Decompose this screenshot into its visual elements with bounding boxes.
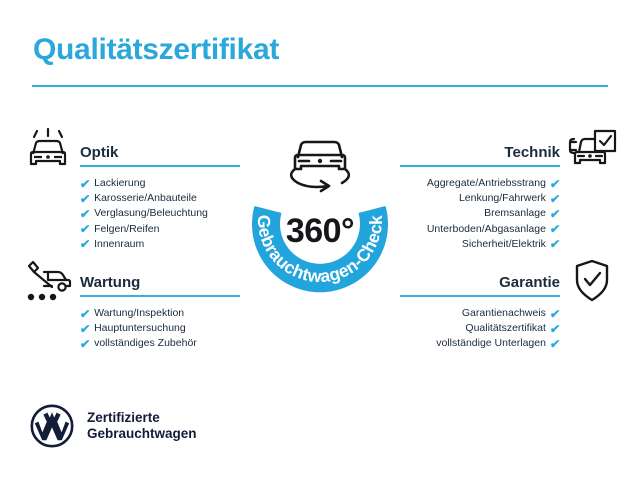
wartung-check-list: ✔ Wartung/Inspektion ✔ Hauptuntersuchung… [80, 306, 260, 352]
list-item-label: Bremsanlage [484, 206, 546, 221]
list-item-label: Verglasung/Beleuchtung [94, 206, 208, 221]
page-title: Qualitätszertifikat [33, 33, 279, 67]
car-checkbox-icon [566, 128, 618, 174]
check-icon: ✔ [549, 338, 560, 350]
footer-brand-text: Zertifizierte Gebrauchtwagen [87, 410, 197, 442]
list-item-label: Hauptuntersuchung [94, 321, 186, 336]
check-icon: ✔ [549, 308, 560, 320]
list-item-label: Sicherheit/Elektrik [462, 237, 546, 252]
list-item-label: Felgen/Reifen [94, 222, 159, 237]
section-divider [80, 165, 240, 167]
check-icon: ✔ [79, 178, 90, 190]
section-optik-header: Optik [80, 144, 240, 167]
check-icon: ✔ [79, 208, 90, 220]
list-item-label: Garantienachweis [462, 306, 546, 321]
section-title: Technik [400, 144, 560, 161]
section-divider [80, 295, 240, 297]
check-icon: ✔ [79, 223, 90, 235]
car-front-lights-icon [22, 128, 74, 174]
check-icon: ✔ [549, 223, 560, 235]
section-technik-header: Technik [400, 144, 560, 167]
list-item-label: Lackierung [94, 176, 145, 191]
badge-360-gebrauchtwagen-check: Gebrauchtwagen-Check 360° [228, 128, 412, 312]
check-icon: ✔ [549, 178, 560, 190]
list-item-label: Lenkung/Fahrwerk [459, 191, 546, 206]
shield-check-icon [566, 258, 618, 304]
list-item-label: Unterboden/Abgasanlage [427, 222, 546, 237]
check-icon: ✔ [79, 238, 90, 250]
check-icon: ✔ [79, 193, 90, 205]
footer-brand: Zertifizierte Gebrauchtwagen [30, 404, 197, 448]
garantie-check-list: Garantienachweis ✔ Qualitätszertifikat ✔… [380, 306, 560, 352]
section-divider [400, 165, 560, 167]
check-icon: ✔ [549, 193, 560, 205]
section-title: Optik [80, 144, 240, 161]
list-item-label: Karosserie/Anbauteile [94, 191, 197, 206]
check-icon: ✔ [79, 323, 90, 335]
list-item-label: Wartung/Inspektion [94, 306, 184, 321]
title-divider [32, 85, 608, 87]
list-item-label: Innenraum [94, 237, 144, 252]
check-icon: ✔ [79, 338, 90, 350]
car-service-pen-icon [22, 258, 74, 304]
list-item: Qualitätszertifikat ✔ [380, 321, 560, 336]
list-item-label: Qualitätszertifikat [465, 321, 546, 336]
check-icon: ✔ [549, 238, 560, 250]
section-wartung-header: Wartung [80, 274, 240, 297]
section-garantie-header: Garantie [400, 274, 560, 297]
list-item: ✔ Hauptuntersuchung [80, 321, 260, 336]
volkswagen-logo [30, 404, 74, 448]
section-divider [400, 295, 560, 297]
list-item: vollständige Unterlagen ✔ [380, 336, 560, 351]
check-icon: ✔ [549, 323, 560, 335]
badge-degree-label: 360° [228, 212, 412, 251]
certificate-page: Qualitätszertifikat Optik [0, 0, 640, 480]
list-item-label: vollständiges Zubehör [94, 336, 197, 351]
list-item: ✔ vollständiges Zubehör [80, 336, 260, 351]
check-icon: ✔ [79, 308, 90, 320]
check-icon: ✔ [549, 208, 560, 220]
section-title: Wartung [80, 274, 240, 291]
list-item-label: vollständige Unterlagen [436, 336, 546, 351]
section-title: Garantie [400, 274, 560, 291]
list-item-label: Aggregate/Antriebsstrang [427, 176, 546, 191]
